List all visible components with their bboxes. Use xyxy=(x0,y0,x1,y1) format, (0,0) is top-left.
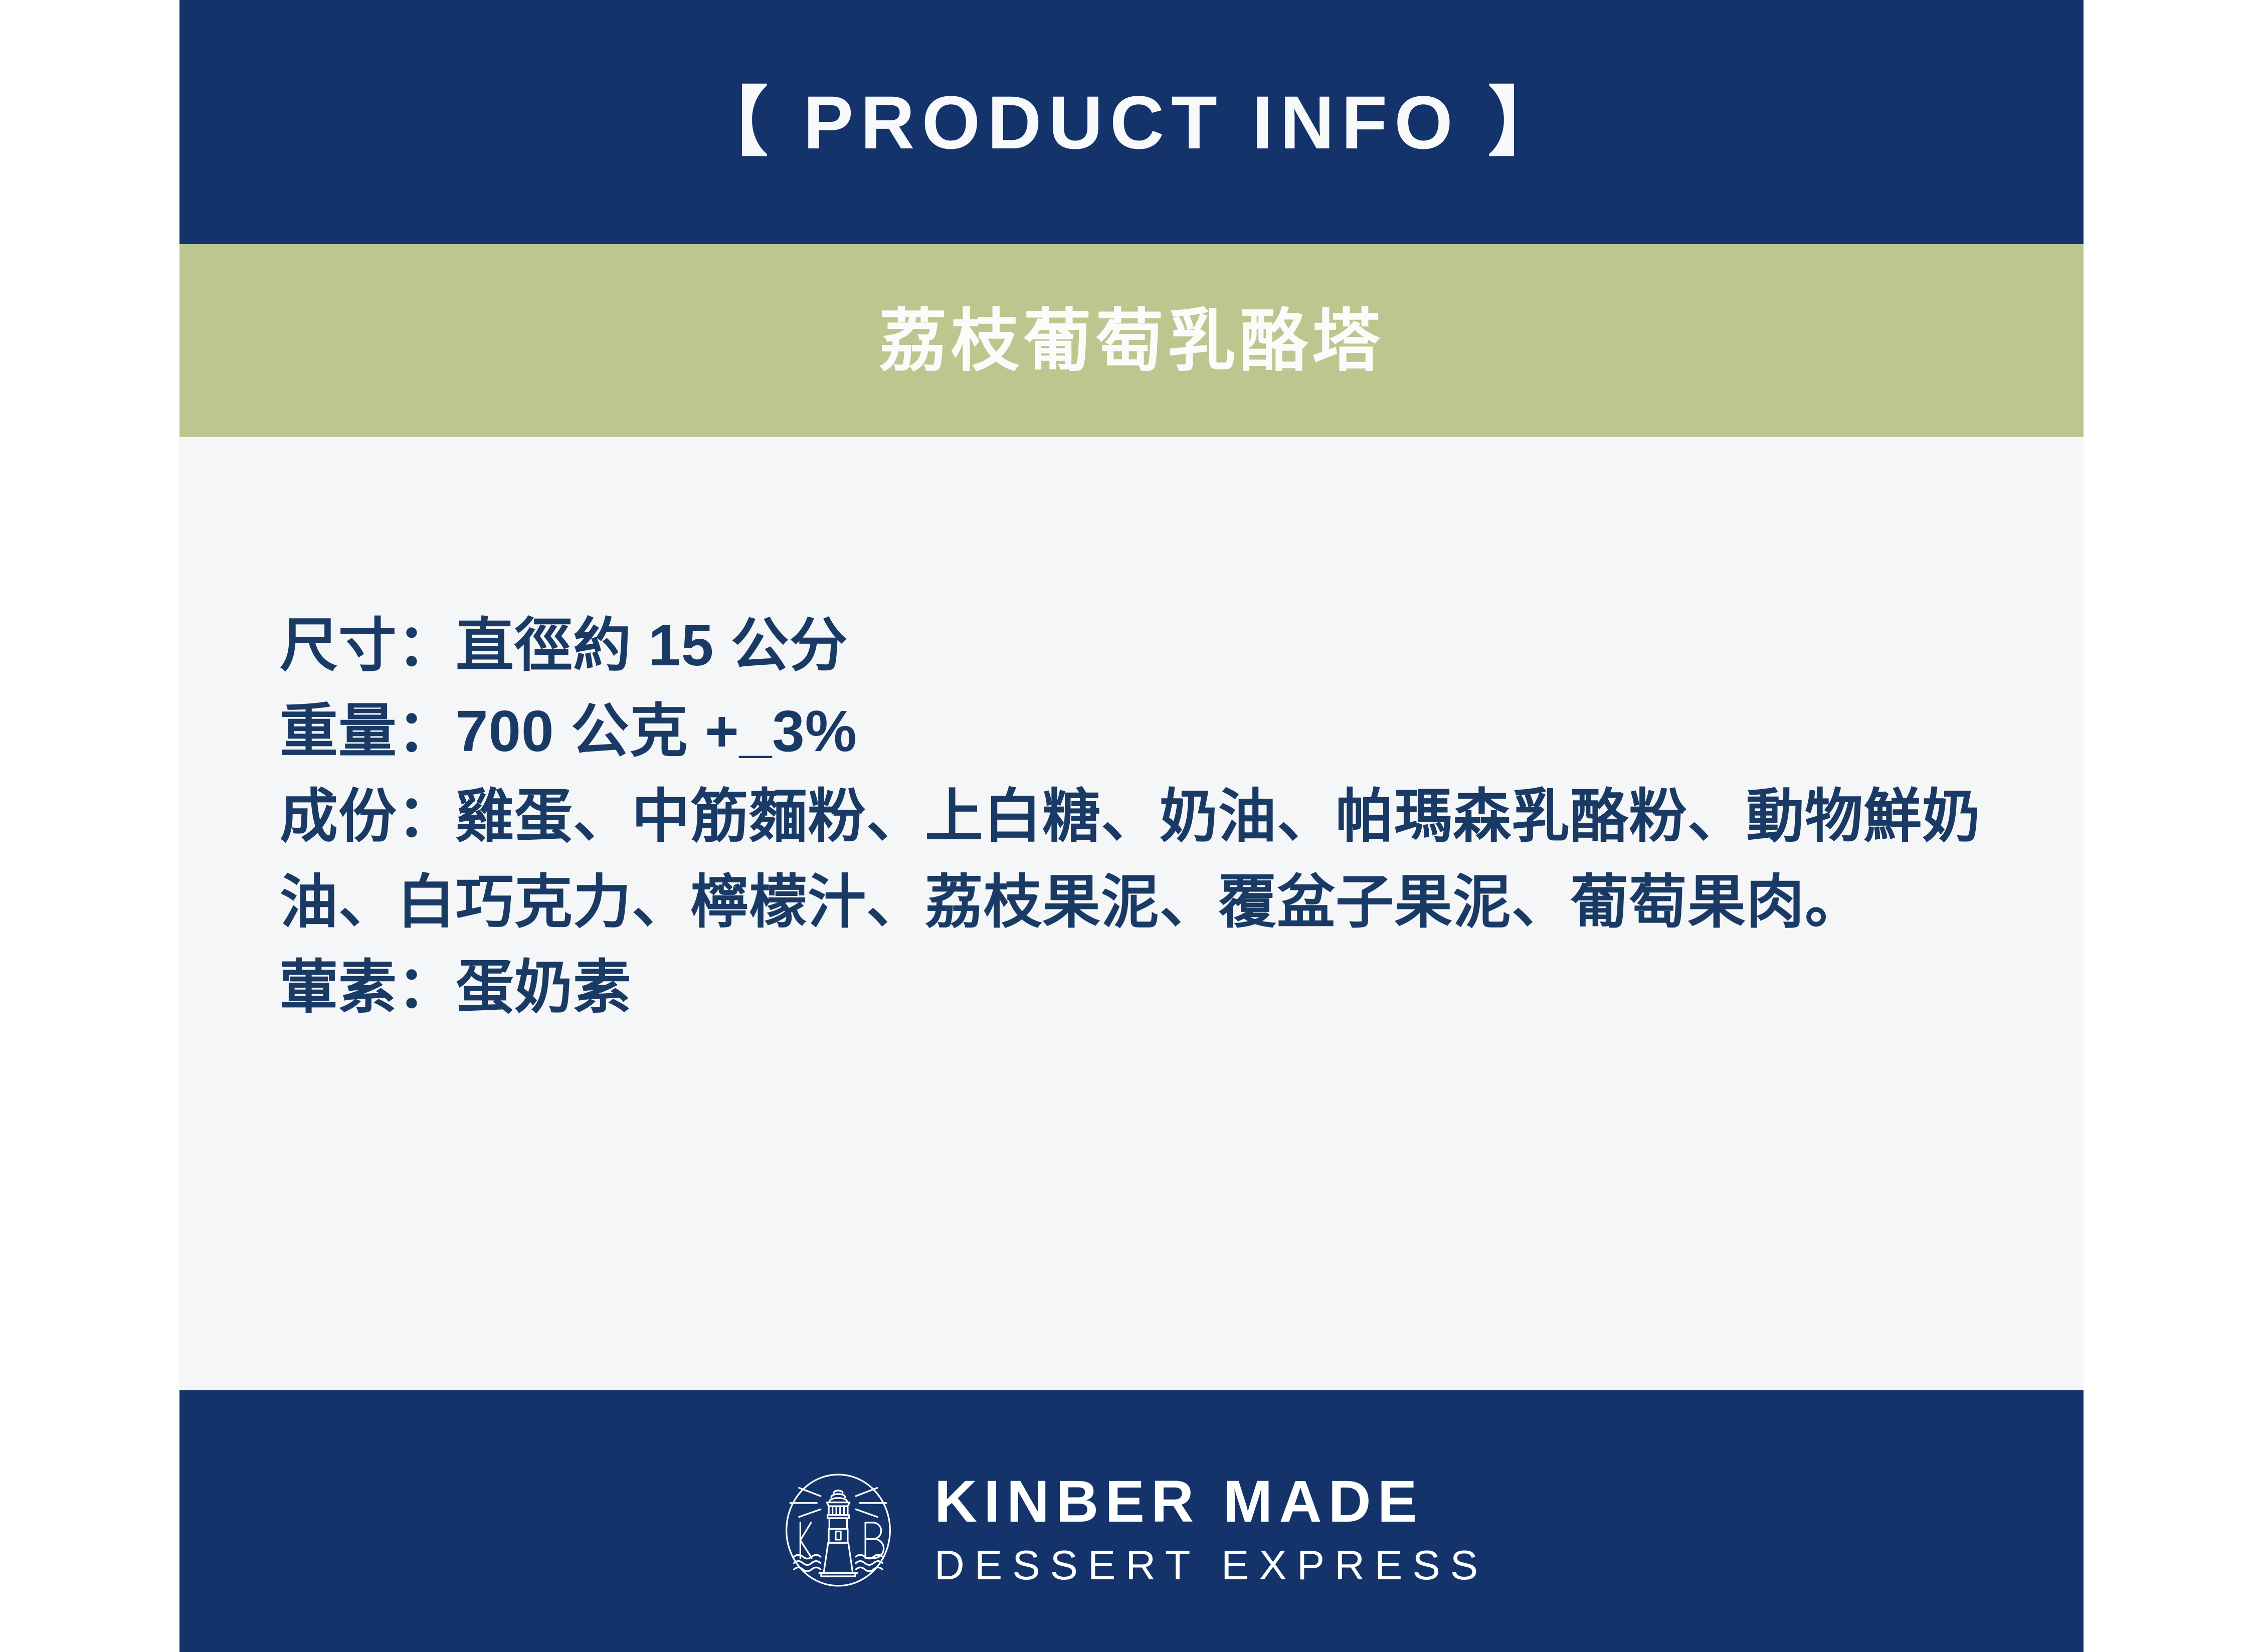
specifications-list: 尺寸：直徑約 15 公分 重量：700 公克 +_3% 成份：雞蛋、中筋麵粉、上… xyxy=(280,603,2008,1030)
product-name: 荔枝葡萄乳酪塔 xyxy=(879,307,1384,375)
spec-line-weight: 重量：700 公克 +_3% xyxy=(280,688,2008,774)
specifications-section: 尺寸：直徑約 15 公分 重量：700 公克 +_3% 成份：雞蛋、中筋麵粉、上… xyxy=(179,437,2084,1390)
brand-name: KINBER MADE xyxy=(934,1471,1488,1533)
footer-band: KINBER MADE DESSERT EXPRESS xyxy=(179,1390,2084,1652)
page-title: 【 PRODUCT INFO 】 xyxy=(693,85,1570,160)
product-title-band: 荔枝葡萄乳酪塔 xyxy=(179,244,2084,437)
brand-tagline: DESSERT EXPRESS xyxy=(934,1540,1488,1590)
lighthouse-softserve-emblem-icon xyxy=(775,1467,901,1593)
spec-line-size: 尺寸：直徑約 15 公分 xyxy=(280,603,2008,688)
spec-line-ingredients: 成份：雞蛋、中筋麵粉、上白糖、奶油、帕瑪森乳酪粉、動物鮮奶油、白巧克力、檸檬汁、… xyxy=(280,774,2008,945)
product-info-card: 【 PRODUCT INFO 】 荔枝葡萄乳酪塔 尺寸：直徑約 15 公分 重量… xyxy=(179,0,2084,1652)
brand-wordmark: KINBER MADE DESSERT EXPRESS xyxy=(934,1471,1488,1590)
brand-lockup: KINBER MADE DESSERT EXPRESS xyxy=(775,1467,1488,1593)
header-band: 【 PRODUCT INFO 】 xyxy=(179,0,2084,244)
spec-line-diet: 葷素：蛋奶素 xyxy=(280,945,2008,1030)
product-info-graphic: 【 PRODUCT INFO 】 荔枝葡萄乳酪塔 尺寸：直徑約 15 公分 重量… xyxy=(0,0,2264,1652)
